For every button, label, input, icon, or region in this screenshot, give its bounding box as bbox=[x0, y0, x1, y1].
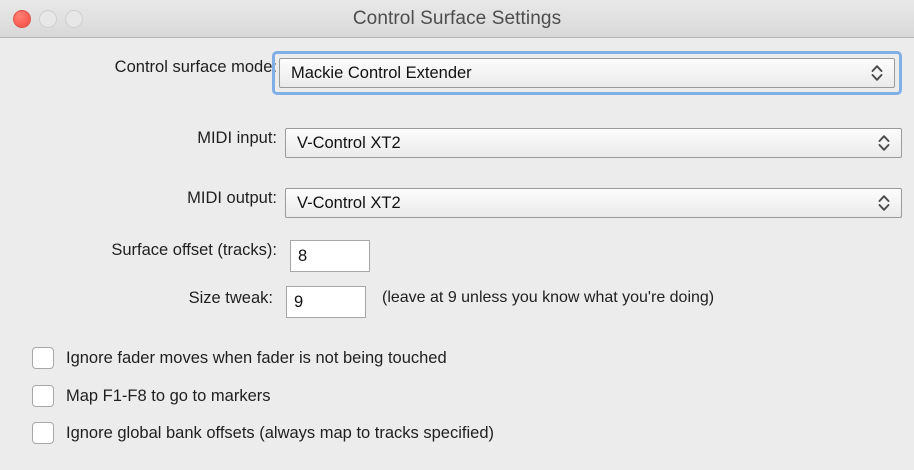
page-title: Control Surface Settings bbox=[0, 0, 914, 38]
map-f1-f8-label: Map F1-F8 to go to markers bbox=[66, 387, 271, 406]
chevron-up-down-icon bbox=[877, 133, 891, 153]
midi-output-value: V-Control XT2 bbox=[297, 194, 401, 213]
ignore-global-bank-offsets-label: Ignore global bank offsets (always map t… bbox=[66, 424, 494, 443]
midi-output-label-wrap: MIDI output: bbox=[26, 189, 277, 208]
ignore-fader-moves-label: Ignore fader moves when fader is not bei… bbox=[66, 349, 447, 368]
control-surface-mode-label: Control surface mode: bbox=[115, 58, 277, 77]
control-surface-mode-label-wrap: Control surface mode: bbox=[26, 58, 277, 77]
midi-output-label: MIDI output: bbox=[187, 189, 277, 208]
size-tweak-input[interactable]: 9 bbox=[286, 286, 366, 318]
settings-content: Control surface mode: Mackie Control Ext… bbox=[0, 38, 914, 470]
midi-input-label: MIDI input: bbox=[197, 129, 277, 148]
map-f1-f8-checkbox[interactable] bbox=[32, 385, 54, 407]
surface-offset-value: 8 bbox=[298, 247, 307, 266]
checkbox-row-map-f1-f8[interactable]: Map F1-F8 to go to markers bbox=[32, 385, 271, 407]
size-tweak-value: 9 bbox=[294, 293, 303, 312]
ignore-global-bank-offsets-checkbox[interactable] bbox=[32, 422, 54, 444]
chevron-up-down-icon bbox=[877, 193, 891, 213]
surface-offset-input[interactable]: 8 bbox=[290, 240, 370, 272]
chevron-up-down-icon bbox=[870, 63, 884, 83]
size-tweak-hint-wrap: (leave at 9 unless you know what you're … bbox=[382, 289, 714, 307]
size-tweak-label-wrap: Size tweak: bbox=[26, 289, 273, 308]
control-surface-settings-window: Control Surface Settings Control surface… bbox=[0, 0, 914, 470]
size-tweak-label: Size tweak: bbox=[189, 289, 273, 308]
midi-input-label-wrap: MIDI input: bbox=[26, 129, 277, 148]
ignore-fader-moves-checkbox[interactable] bbox=[32, 347, 54, 369]
control-surface-mode-select[interactable]: Mackie Control Extender bbox=[279, 58, 895, 88]
checkbox-row-ignore-global-bank-offsets[interactable]: Ignore global bank offsets (always map t… bbox=[32, 422, 494, 444]
midi-input-select[interactable]: V-Control XT2 bbox=[285, 128, 902, 158]
size-tweak-hint: (leave at 9 unless you know what you're … bbox=[382, 289, 714, 307]
surface-offset-label-wrap: Surface offset (tracks): bbox=[26, 241, 277, 260]
midi-output-select[interactable]: V-Control XT2 bbox=[285, 188, 902, 218]
checkbox-row-ignore-fader-moves[interactable]: Ignore fader moves when fader is not bei… bbox=[32, 347, 447, 369]
midi-input-value: V-Control XT2 bbox=[297, 134, 401, 153]
control-surface-mode-value: Mackie Control Extender bbox=[291, 64, 472, 83]
surface-offset-label: Surface offset (tracks): bbox=[111, 241, 277, 260]
title-bar: Control Surface Settings bbox=[0, 0, 914, 38]
